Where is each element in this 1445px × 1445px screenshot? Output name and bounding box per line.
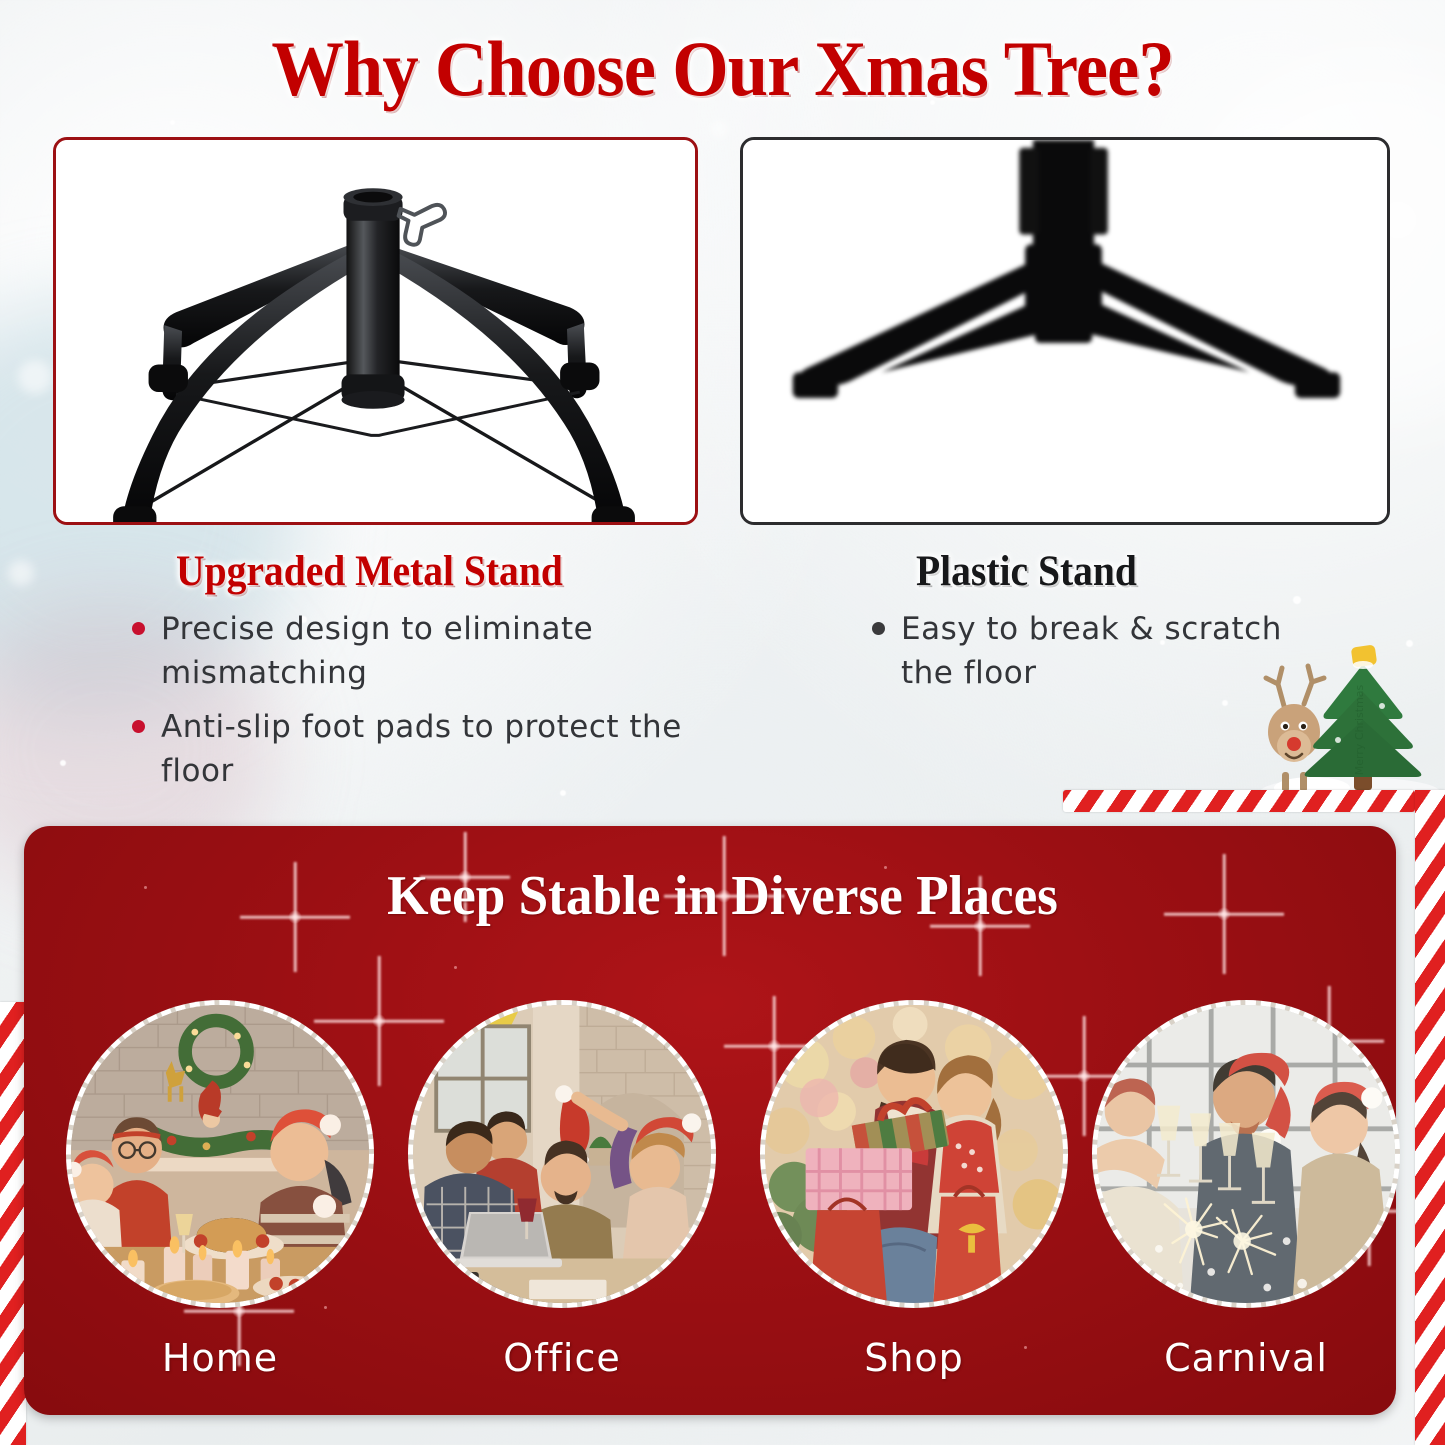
scene-circle-shop [760,1000,1068,1308]
family-christmas-dinner-photo [71,1005,369,1303]
metal-stand-illustration [56,140,695,522]
metal-stand-heading: Upgraded Metal Stand [176,547,563,596]
friends-toasting-with-sparklers-photo [1097,1005,1395,1303]
scene-circle-home [66,1000,374,1308]
reindeer-and-tree-icon: Merry Christmas [1242,620,1442,805]
mother-and-daughter-shopping-photo [765,1005,1063,1303]
metal-bullet-text: Anti-slip foot pads to protect the floor [161,705,732,793]
scene-circle-carnival [1092,1000,1400,1308]
bullet-dot-icon [872,622,885,635]
plastic-stand-heading: Plastic Stand [916,547,1137,596]
page-title: Why Choose Our Xmas Tree? [51,24,1395,114]
svg-text:Merry Christmas: Merry Christmas [1353,684,1366,775]
plastic-stand-illustration [743,140,1387,522]
metal-stand-photo [56,140,695,522]
bullet-dot-icon [132,622,145,635]
candy-cane-border-left [0,1002,26,1445]
scene-label-shop: Shop [760,1336,1068,1380]
scene-circle-office [408,1000,716,1308]
scene-label-home: Home [66,1336,374,1380]
list-item: Precise design to eliminate mismatching [132,607,732,695]
scene-label-carnival: Carnival [1092,1336,1400,1380]
scene-label-office: Office [408,1336,716,1380]
plastic-stand-photo [743,140,1387,522]
panel-title: Keep Stable in Diverse Places [36,864,1409,928]
bullet-dot-icon [132,720,145,733]
candy-cane-border-top [1063,790,1415,812]
office-christmas-party-photo [413,1005,711,1303]
list-item: Anti-slip foot pads to protect the floor [132,705,732,793]
metal-stand-bullet-list: Precise design to eliminate mismatching … [132,607,732,803]
metal-bullet-text: Precise design to eliminate mismatching [161,607,732,695]
candy-cane-border-right [1415,790,1445,1445]
plastic-stand-photo-frame [740,137,1390,525]
metal-stand-photo-frame [53,137,698,525]
